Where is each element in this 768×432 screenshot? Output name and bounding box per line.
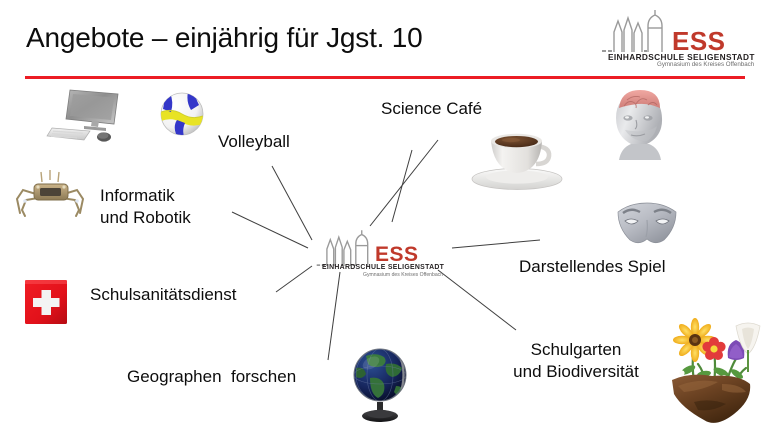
ess-logo-hub: ESS EINHARDSCHULE SELIGENSTADT Gymnasium… (315, 228, 449, 280)
node-label-darstellendes: Darstellendes Spiel (519, 256, 665, 278)
logo-school-subtitle: Gymnasium des Kreises Offenbach (363, 272, 443, 278)
volleyball-icon (158, 90, 206, 138)
spoke-volleyball (272, 166, 312, 240)
node-label-geographen: Geographen forschen (127, 366, 296, 388)
node-label-science-cafe: Science Café (381, 98, 482, 120)
flowers-soil-icon (664, 316, 762, 428)
node-label-informatik: Informatik und Robotik (100, 185, 191, 229)
node-label-volleyball: Volleyball (218, 131, 290, 153)
node-label-schulgarten: Schulgarten und Biodiversität (500, 339, 652, 383)
spoke-informatik (232, 212, 308, 248)
desktop-computer-icon (46, 88, 122, 144)
spoke-schulgarten (438, 270, 516, 330)
globe-icon (348, 344, 412, 424)
spoke-brain (392, 150, 412, 222)
spoke-schulsanitaet (276, 266, 312, 292)
logo-school-name: EINHARDSCHULE SELIGENSTADT (322, 264, 444, 271)
coffee-cup-icon (466, 124, 568, 190)
theater-mask-icon (612, 200, 682, 248)
node-label-schulsanitaet: Schulsanitätsdienst (90, 284, 236, 306)
first-aid-cross-icon (22, 276, 72, 328)
brain-head-icon (603, 86, 675, 160)
spoke-science-cafe (370, 140, 438, 226)
spoke-darstellendes (452, 240, 540, 248)
robot-spider-icon (12, 168, 90, 218)
spoke-geographen (328, 272, 340, 360)
slide-canvas: Angebote – einjährig für Jgst. 10 ESS EI… (0, 0, 768, 432)
